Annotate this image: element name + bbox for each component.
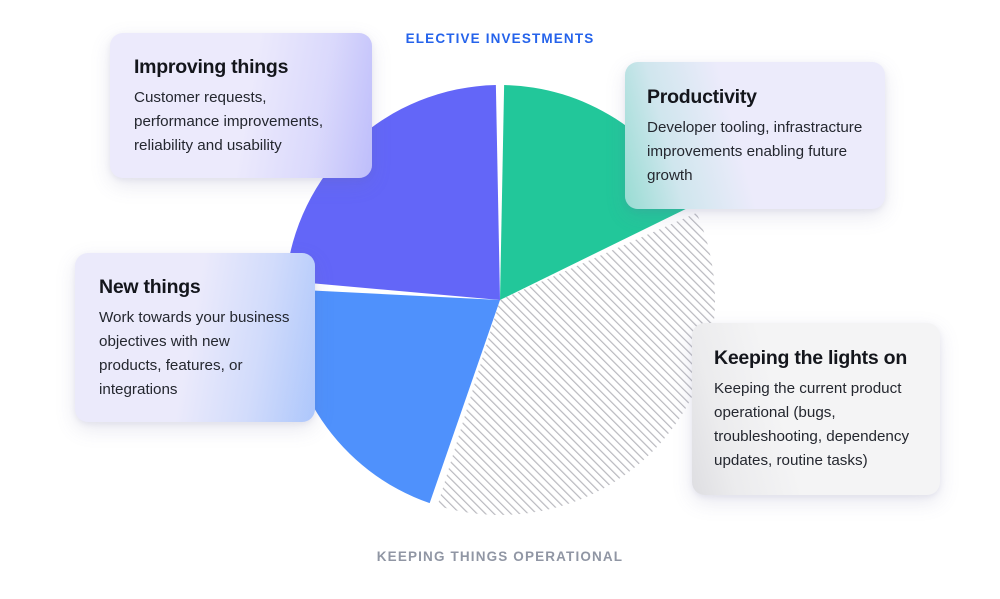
infographic-stage: ELECTIVE INVESTMENTS KEEPING THINGS OPER…: [0, 0, 1000, 599]
card-title: Keeping the lights on: [714, 346, 920, 370]
card-body: Keeping the current product operational …: [714, 377, 920, 473]
card-keeping-the-lights-on[interactable]: Keeping the lights on Keeping the curren…: [692, 323, 940, 495]
card-title: Improving things: [134, 55, 350, 79]
card-body: Customer requests, performance improveme…: [134, 86, 350, 158]
keeping-things-operational-label: KEEPING THINGS OPERATIONAL: [0, 549, 1000, 564]
card-body: Work towards your business objectives wi…: [99, 306, 295, 402]
card-title: New things: [99, 275, 295, 299]
card-improving-things[interactable]: Improving things Customer requests, perf…: [110, 33, 372, 178]
card-title: Productivity: [647, 85, 863, 109]
card-productivity[interactable]: Productivity Developer tooling, infrastr…: [625, 62, 885, 209]
card-new-things[interactable]: New things Work towards your business ob…: [75, 253, 315, 422]
card-body: Developer tooling, infrastracture improv…: [647, 116, 863, 188]
